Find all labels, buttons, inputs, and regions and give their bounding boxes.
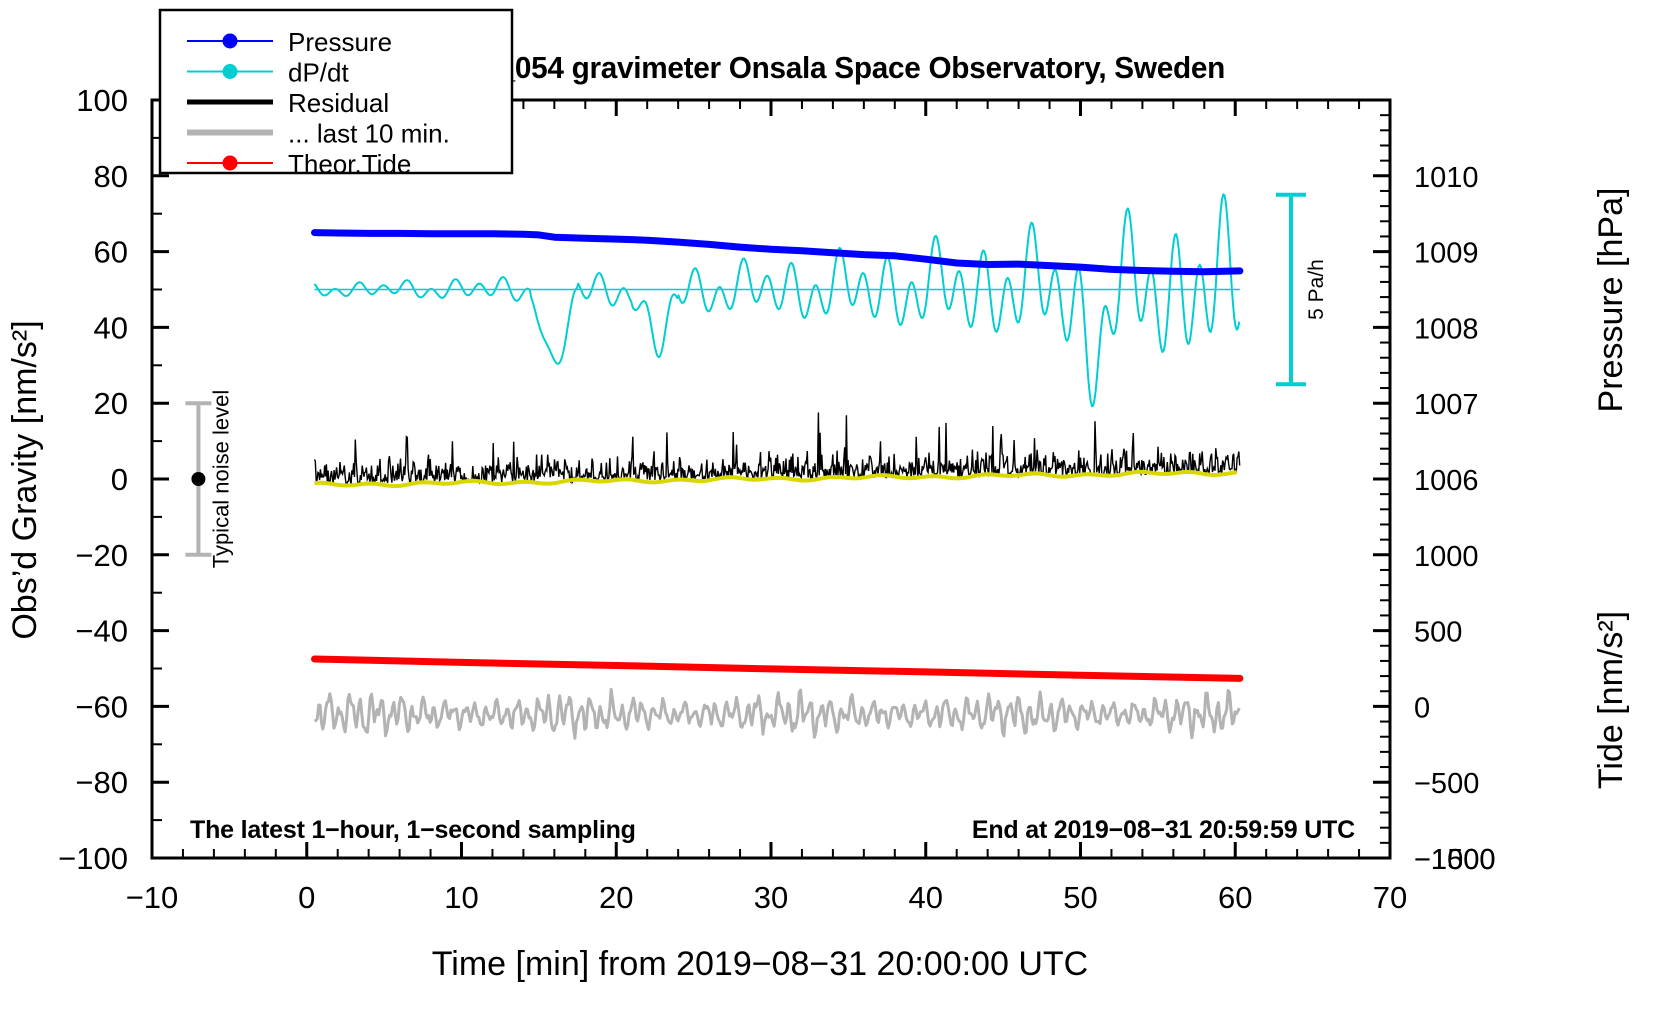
tide-tick-label: 0	[1414, 692, 1430, 724]
pressure-tick-label: 1009	[1414, 238, 1479, 270]
x-tick-label: 10	[444, 880, 478, 915]
legend-label: Residual	[288, 88, 389, 118]
y-axis-label-left: Obs’d Gravity [nm/s²]	[6, 320, 44, 639]
y-tick-label: 60	[94, 235, 128, 270]
y-tick-label: −60	[75, 689, 128, 724]
y-axis-label-pressure: Pressure [hPa]	[1592, 188, 1630, 413]
x-tick-label: 50	[1063, 880, 1097, 915]
x-tick-label: −10	[126, 880, 179, 915]
scalebar-label: 5 Pa/h	[1305, 259, 1328, 320]
x-tick-label: 20	[599, 880, 633, 915]
pressure-tick-label: 1008	[1414, 313, 1479, 345]
footnote-left: The latest 1−hour, 1−second sampling	[190, 816, 636, 844]
noise-level-point	[191, 472, 205, 486]
legend-label: Theor.Tide	[288, 149, 411, 179]
x-tick-label: 70	[1373, 880, 1407, 915]
legend-label: dP/dt	[288, 58, 349, 88]
pressure-tick-label: 1010	[1414, 162, 1479, 194]
y-tick-label: 80	[94, 159, 128, 194]
chart-legend[interactable]: PressuredP/dtResidual... last 10 min.The…	[160, 10, 512, 179]
x-tick-label: 0	[298, 880, 315, 915]
tide-tick-label: −1500	[1414, 844, 1495, 876]
legend-label: Pressure	[288, 27, 392, 57]
pressure-tick-label: 1006	[1414, 465, 1479, 497]
y-tick-label: 100	[76, 83, 128, 118]
y-axis-label-tide: Tide [nm/s²]	[1592, 611, 1630, 789]
tide-tick-label: −500	[1414, 768, 1479, 800]
y-tick-label: −100	[58, 841, 128, 876]
tide-tick-label: 500	[1414, 617, 1462, 649]
y-tick-label: −80	[75, 765, 128, 800]
legend-marker-dot	[223, 156, 238, 171]
pressure-tick-label: 1007	[1414, 389, 1479, 421]
legend-marker-dot	[223, 34, 238, 49]
typical-noise-level-label: Typical noise level	[208, 390, 233, 569]
legend-label: ... last 10 min.	[288, 119, 450, 149]
chart-title: SCG_054 gravimeter Onsala Space Observat…	[435, 50, 1225, 85]
chart-page: −10010203040506070 100806040200−20−40−60…	[0, 0, 1660, 1020]
x-tick-label: 40	[909, 880, 943, 915]
y-tick-label: −40	[75, 614, 128, 649]
legend-marker-dot	[223, 64, 238, 79]
gravimeter-chart: −10010203040506070 100806040200−20−40−60…	[0, 0, 1660, 1020]
footnote-right: End at 2019−08−31 20:59:59 UTC	[972, 816, 1355, 844]
y-tick-label: 40	[94, 310, 128, 345]
y-tick-label: −20	[75, 538, 128, 573]
tide-tick-label: 1000	[1414, 541, 1479, 573]
y-tick-label: 0	[111, 462, 128, 497]
x-tick-label: 60	[1218, 880, 1252, 915]
x-tick-label: 30	[754, 880, 788, 915]
x-axis-label: Time [min] from 2019−08−31 20:00:00 UTC	[432, 945, 1088, 983]
y-tick-label: 20	[94, 386, 128, 421]
